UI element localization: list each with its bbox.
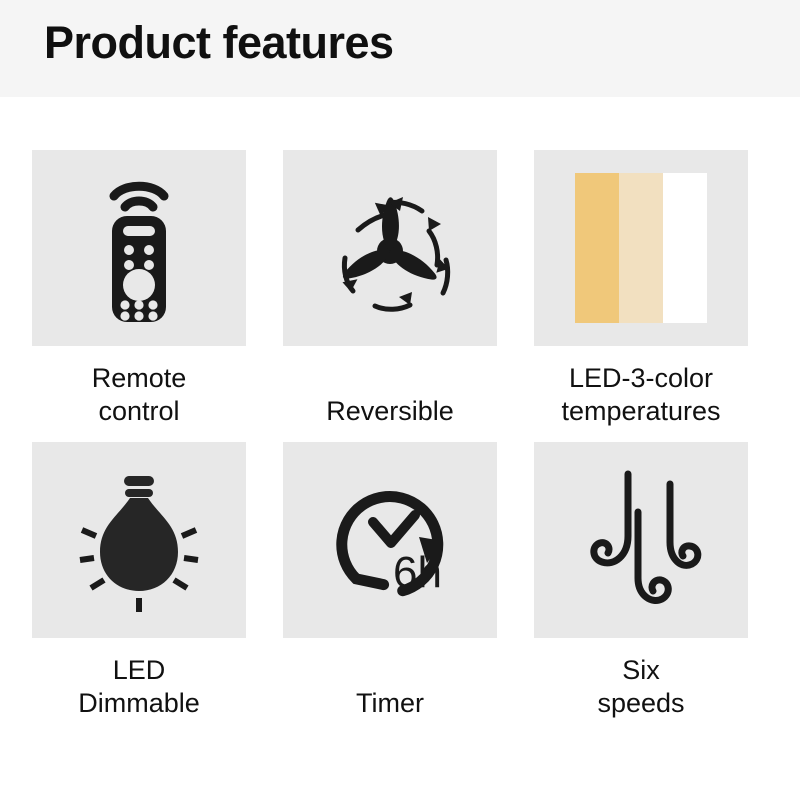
feature-card-six-speeds[interactable]: Six speeds (534, 442, 748, 720)
feature-label: Reversible (283, 346, 497, 428)
swatch-natural-white (619, 173, 663, 323)
feature-icon-tile (283, 150, 497, 346)
feature-label: Remote control (32, 346, 246, 428)
color-temperature-swatches-icon (575, 173, 707, 323)
light-bulb-icon (64, 460, 214, 620)
swatch-warm-white (575, 173, 619, 323)
swatch-cool-white (663, 173, 707, 323)
feature-card-led-3-color-temperatures[interactable]: LED-3-color temperatures (534, 150, 748, 428)
feature-icon-tile (534, 150, 748, 346)
header-band: Product features (0, 0, 800, 97)
feature-card-led-dimmable[interactable]: LED Dimmable (32, 442, 246, 720)
feature-card-remote-control[interactable]: Remote control (32, 150, 246, 428)
timer-badge-text: 6h (393, 548, 442, 597)
feature-icon-tile (534, 442, 748, 638)
feature-icon-tile (32, 150, 246, 346)
feature-icon-tile: 6h (283, 442, 497, 638)
feature-label: Six speeds (534, 638, 748, 720)
feature-card-reversible[interactable]: Reversible (283, 150, 497, 428)
feature-label: LED Dimmable (32, 638, 246, 720)
remote-control-icon (75, 168, 203, 328)
feature-grid: Remote control (32, 150, 748, 720)
feature-label: Timer (283, 638, 497, 720)
feature-icon-tile (32, 442, 246, 638)
page-title: Product features (44, 16, 394, 70)
feature-card-timer[interactable]: 6h Timer (283, 442, 497, 720)
timer-clock-icon: 6h (315, 465, 465, 615)
airflow-swirl-icon (576, 460, 706, 620)
feature-label: LED-3-color temperatures (534, 346, 748, 428)
reversible-fan-icon (315, 173, 465, 323)
